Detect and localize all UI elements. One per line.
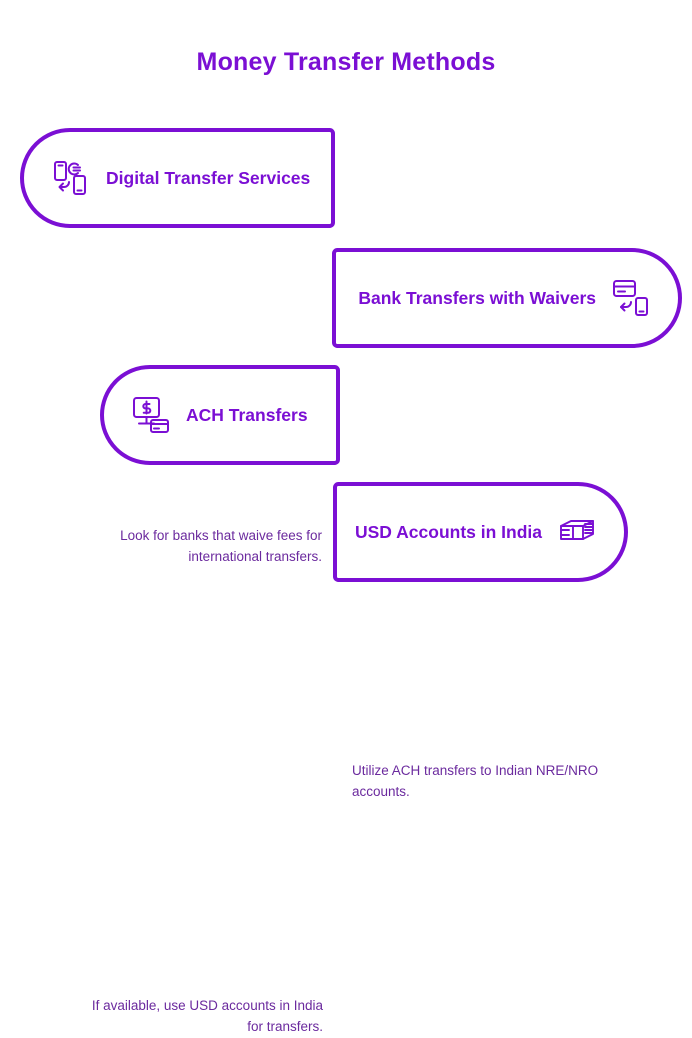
capsule-label: USD Accounts in India <box>355 522 542 542</box>
capsule-usd-accounts-in-india[interactable]: USD Accounts in India <box>333 482 628 582</box>
capsule-digital-transfer-services[interactable]: Digital Transfer Services <box>20 128 335 228</box>
capsule-label: ACH Transfers <box>186 405 308 425</box>
method-row-bank-transfers-with-waivers: Look for banks that waive fees for inter… <box>0 248 692 358</box>
method-row-ach-transfers: ACH Transfers Utilize ACH transfers to I… <box>0 365 692 475</box>
method-description: Utilize ACH transfers to Indian NRE/NRO … <box>352 761 602 803</box>
capsule-label: Digital Transfer Services <box>106 168 310 188</box>
page-title: Money Transfer Methods <box>0 48 692 77</box>
capsule-ach-transfers[interactable]: ACH Transfers <box>100 365 340 465</box>
monitor-dollar-card-icon <box>130 394 172 436</box>
capsule-label: Bank Transfers with Waivers <box>358 288 596 308</box>
method-row-digital-transfer-services: Digital Transfer Services Use digital pl… <box>0 128 692 238</box>
phone-euro-transfer-icon <box>50 157 92 199</box>
method-row-usd-accounts-in-india: If available, use USD accounts in India … <box>0 482 692 592</box>
card-to-phone-transfer-icon <box>610 277 652 319</box>
banknote-stack-icon <box>556 511 598 553</box>
capsule-bank-transfers-with-waivers[interactable]: Bank Transfers with Waivers <box>332 248 682 348</box>
method-description: If available, use USD accounts in India … <box>85 996 323 1038</box>
